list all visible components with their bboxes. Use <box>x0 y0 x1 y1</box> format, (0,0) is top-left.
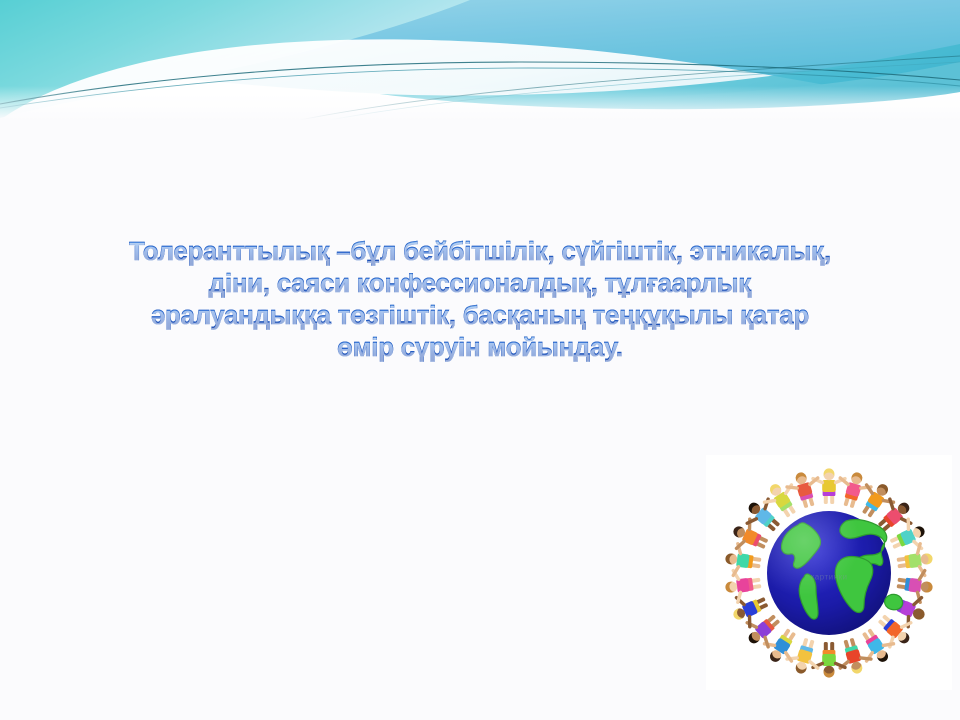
wave-hairline-2 <box>0 68 960 108</box>
wave-teal-band <box>380 44 960 109</box>
wave-hairline-4 <box>330 62 960 120</box>
wave-sky-band <box>0 0 960 98</box>
wave-white-ribbon <box>0 39 960 120</box>
wave-hairline-1 <box>0 62 960 104</box>
title-line-3: әралуандыққа төзгіштік, басқаның теңқұқы… <box>60 300 900 332</box>
title-line-2: діни, саяси конфессионалдық, тұлғаарлық <box>60 268 900 300</box>
presentation-slide: Толеранттылық –бұл бейбітшілік, сүйгішті… <box>0 0 960 720</box>
globe-highlight <box>767 511 891 635</box>
title-line-1: Толеранттылық –бұл бейбітшілік, сүйгішті… <box>60 236 900 268</box>
wave-teal-wedge <box>0 0 470 118</box>
children-around-globe-image: картинки <box>706 455 952 690</box>
slide-title: Толеранттылық –бұл бейбітшілік, сүйгішті… <box>60 236 900 364</box>
decorative-wave-banner <box>0 0 960 120</box>
title-line-4: өмір сүруін мойындау. <box>60 332 900 364</box>
wave-hairline-3 <box>300 56 960 120</box>
land-australia <box>885 594 903 609</box>
